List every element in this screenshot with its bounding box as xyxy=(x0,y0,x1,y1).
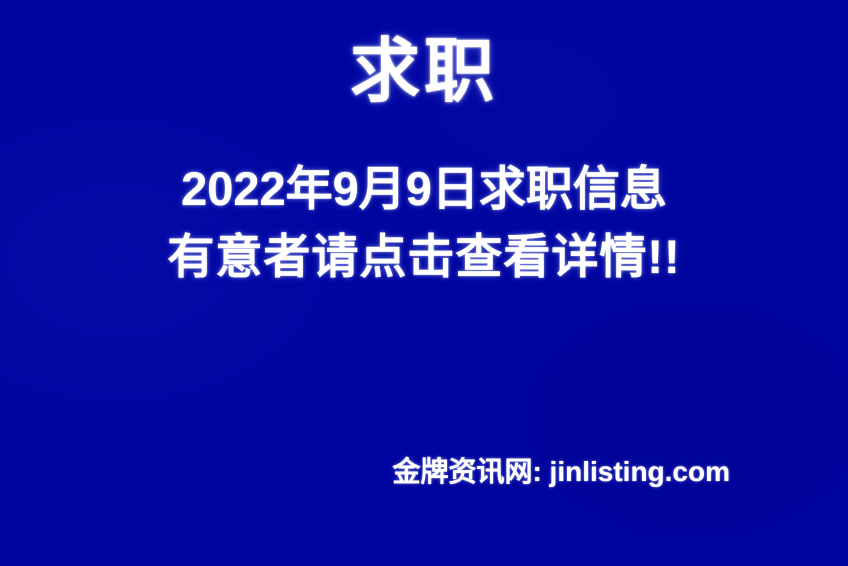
announcement-text-block: 2022年9月9日求职信息 有意者请点击查看详情!! xyxy=(0,155,848,291)
announcement-line-cta: 有意者请点击查看详情!! xyxy=(0,223,848,291)
poster-canvas: 求职 2022年9月9日求职信息 有意者请点击查看详情!! 金牌资讯网: jin… xyxy=(0,0,848,566)
page-title: 求职 xyxy=(0,27,848,115)
announcement-line-date: 2022年9月9日求职信息 xyxy=(0,155,848,223)
site-watermark: 金牌资讯网: jinlisting.com xyxy=(0,455,730,489)
